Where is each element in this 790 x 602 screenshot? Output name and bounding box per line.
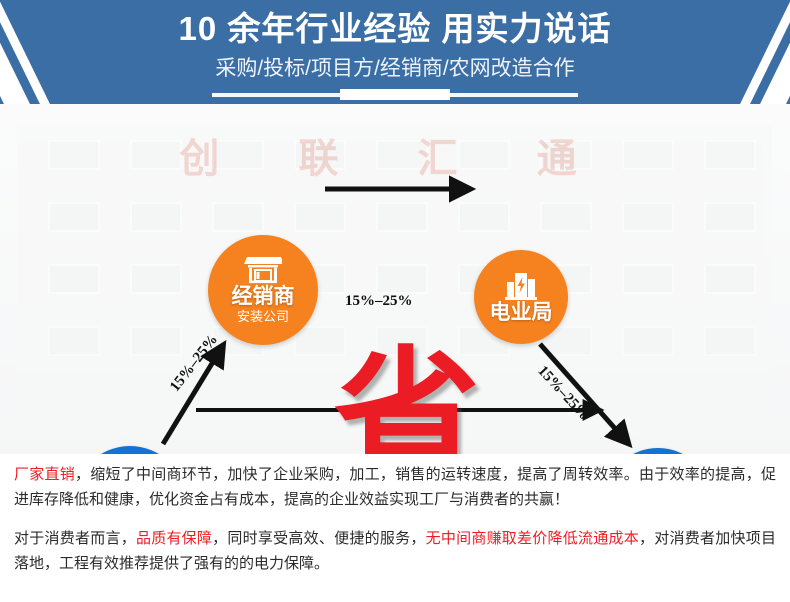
diagram-node-power-bureau[interactable]: 电业局: [474, 250, 568, 344]
power-building-icon: [504, 271, 538, 301]
diagram-node-dealer[interactable]: 经销商 安装公司: [208, 235, 318, 345]
header-banner: 10 余年行业经验 用实力说话 采购/投标/项目方/经销商/农网改造合作: [0, 0, 790, 104]
node-subtitle: 安装公司: [237, 309, 289, 325]
footer-paragraph-2: 对于消费者而言，品质有保障，同时享受高效、便捷的服务，无中间商赚取差价降低流通成…: [14, 526, 776, 576]
paragraph-2-lead: 对于消费者而言，: [14, 530, 136, 547]
node-title: 经销商: [232, 285, 295, 308]
diagram-stage: 创 联 汇 通 经销商 安装公: [0, 104, 790, 454]
footer-text-block: 厂家直销，缩短了中间商环节，加快了企业采购，加工，销售的运转速度，提高了周转效率…: [0, 454, 790, 602]
header-title: 10 余年行业经验 用实力说话: [0, 8, 790, 50]
paragraph-1-rest: ，缩短了中间商环节，加快了企业采购，加工，销售的运转速度，提高了周转效率。由于效…: [14, 466, 776, 508]
node-title: 电业局: [490, 301, 553, 324]
arrow-label-top: 15%–25%: [345, 293, 413, 310]
header-divider-center: [340, 89, 450, 100]
paragraph-2-mid: ，同时享受高效、便捷的服务，: [212, 530, 425, 547]
storefront-icon: [244, 255, 282, 285]
highlight-quality-guarantee: 品质有保障: [136, 530, 212, 547]
promo-infographic: { "header": { "title": "10 余年行业经验 用实力说话"…: [0, 0, 790, 602]
highlight-no-middleman: 无中间商赚取差价降低流通成本: [426, 530, 639, 547]
header-subtitle: 采购/投标/项目方/经销商/农网改造合作: [0, 56, 790, 82]
footer-paragraph-1: 厂家直销，缩短了中间商环节，加快了企业采购，加工，销售的运转速度，提高了周转效率…: [14, 462, 776, 512]
highlight-manufacturer-direct: 厂家直销: [14, 466, 75, 483]
center-save-character: 省: [334, 345, 480, 454]
